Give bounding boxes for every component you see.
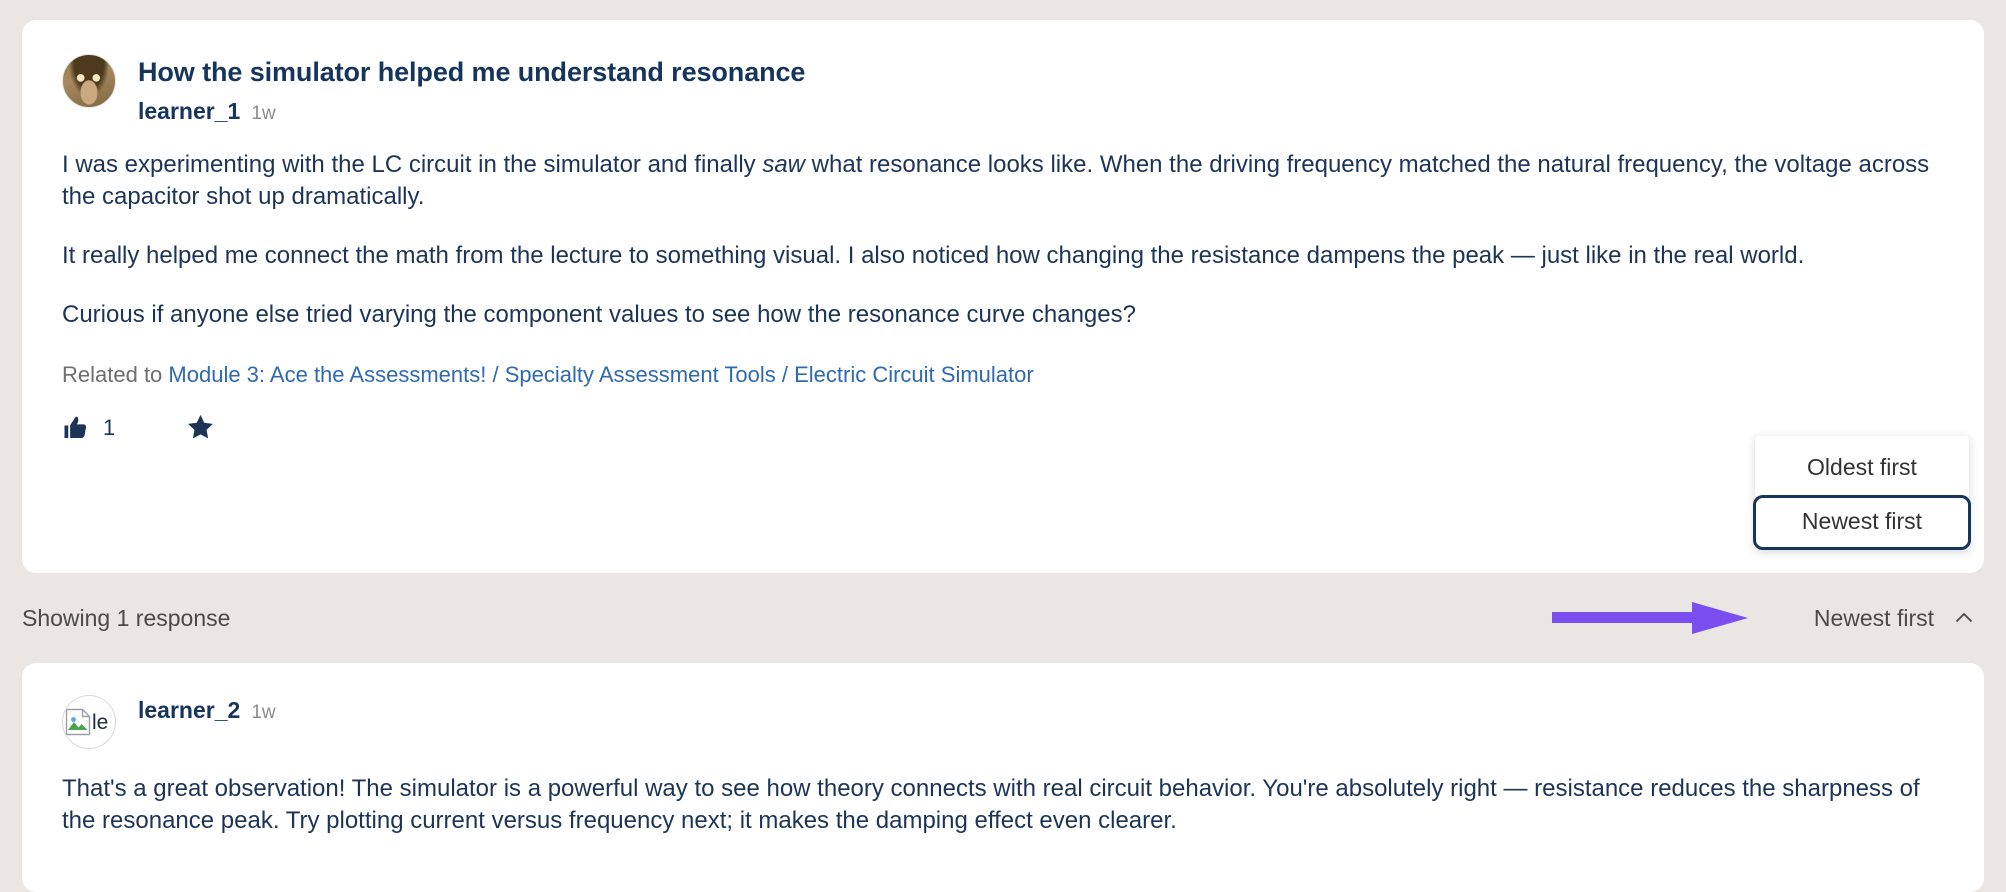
- broken-image-glyph-wrap: le: [65, 702, 115, 742]
- post-card: How the simulator helped me understand r…: [22, 20, 1984, 573]
- bookmark-button[interactable]: [185, 412, 216, 443]
- sort-selected-label: Newest first: [1814, 605, 1934, 632]
- sort-option-oldest-first[interactable]: Oldest first: [1755, 442, 1969, 493]
- discussion-page: How the simulator helped me understand r…: [0, 0, 2006, 892]
- post-body: I was experimenting with the LC circuit …: [62, 149, 1944, 388]
- post-paragraph-2: It really helped me connect the math fro…: [62, 240, 1942, 272]
- star-icon: [185, 412, 216, 443]
- reply-author[interactable]: learner_2: [138, 697, 240, 724]
- like-count: 1: [103, 415, 115, 441]
- post-header: How the simulator helped me understand r…: [62, 54, 1944, 125]
- page-title: How the simulator helped me understand r…: [138, 56, 805, 88]
- sort-option-newest-first[interactable]: Newest first: [1753, 495, 1971, 550]
- chevron-up-icon: [1952, 606, 1976, 630]
- like-button[interactable]: 1: [62, 413, 115, 443]
- post-actions: 1: [62, 412, 1944, 443]
- reply-header: le learner_2 1w: [62, 695, 1944, 749]
- related-link[interactable]: Module 3: Ace the Assessments! / Special…: [168, 362, 1033, 387]
- post-paragraph-1: I was experimenting with the LC circuit …: [62, 149, 1942, 213]
- post-author[interactable]: learner_1: [138, 98, 240, 125]
- reply-body: That's a great observation! The simulato…: [62, 773, 1944, 837]
- reply-timestamp: 1w: [251, 702, 275, 724]
- paragraph-1-emphasis: saw: [762, 151, 805, 178]
- cat-avatar: [62, 54, 116, 108]
- reply-byline: learner_2 1w: [138, 697, 276, 724]
- sort-dropdown-menu[interactable]: Oldest first Newest first: [1755, 436, 1969, 550]
- thumbs-up-icon: [62, 413, 92, 443]
- post-timestamp: 1w: [251, 103, 275, 125]
- broken-image-avatar: le: [62, 695, 116, 749]
- reply-header-text: learner_2 1w: [138, 695, 276, 724]
- reply-card: le learner_2 1w That's a great observati…: [22, 663, 1984, 892]
- reply-paragraph: That's a great observation! The simulato…: [62, 773, 1942, 837]
- response-count-label: Showing 1 response: [22, 605, 230, 632]
- byline: learner_1 1w: [138, 98, 805, 125]
- sort-dropdown-toggle[interactable]: Newest first: [1814, 605, 1984, 632]
- paragraph-1-before: I was experimenting with the LC circuit …: [62, 151, 762, 178]
- related-line: Related to Module 3: Ace the Assessments…: [62, 362, 1944, 388]
- related-prefix: Related to: [62, 362, 168, 387]
- post-header-text: How the simulator helped me understand r…: [138, 54, 805, 125]
- broken-image-icon: [65, 708, 91, 736]
- post-paragraph-3: Curious if anyone else tried varying the…: [62, 299, 1942, 331]
- sort-bar: Showing 1 response Newest first: [22, 594, 1984, 642]
- broken-image-alt-text: le: [92, 712, 108, 733]
